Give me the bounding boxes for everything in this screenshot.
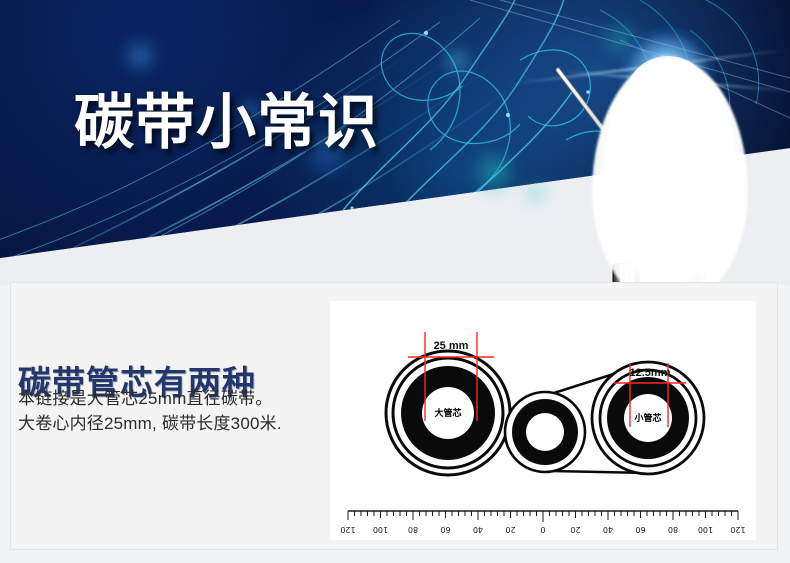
- page-root: 碳带小常识: [0, 0, 790, 563]
- ruler-tick-label: 20: [570, 525, 580, 534]
- ruler-tick-label: 40: [603, 525, 613, 534]
- ruler-tick-label: 80: [408, 525, 418, 534]
- ruler-tick-label: 20: [505, 525, 515, 534]
- core-diagram: 大管芯 25 mm: [330, 301, 756, 540]
- page-title: 碳带小常识: [74, 88, 379, 158]
- small-core-roll: 小管芯: [505, 362, 704, 474]
- small-core-dimension-label: 12.5mm: [630, 367, 671, 379]
- large-core-label: 大管芯: [434, 407, 461, 419]
- ruler-tick-label: 80: [668, 525, 678, 534]
- ruler-tick-label: 100: [373, 525, 388, 534]
- ruler-tick-label: 60: [440, 525, 450, 534]
- section-body-line-2: 大卷心内径25mm, 碳带长度300米.: [18, 411, 318, 436]
- ruler-tick-label: 100: [698, 525, 713, 534]
- section-body-line-1: 本链接是大管芯25mm直径碳带。: [18, 386, 318, 411]
- ruler: 120 100 80 60 40 20 0 20 40 60 80 100 12…: [340, 511, 745, 534]
- section-body: 本链接是大管芯25mm直径碳带。 大卷心内径25mm, 碳带长度300米.: [18, 386, 318, 436]
- ruler-tick-label: 0: [540, 525, 545, 534]
- large-core-dimension-label: 25 mm: [434, 340, 469, 352]
- large-core-roll: 大管芯: [386, 351, 510, 475]
- ruler-tick-label: 120: [340, 525, 355, 534]
- ruler-tick-label: 40: [473, 525, 483, 534]
- ruler-tick-label: 60: [635, 525, 645, 534]
- small-core-label: 小管芯: [633, 412, 661, 424]
- ruler-tick-label: 120: [730, 525, 745, 534]
